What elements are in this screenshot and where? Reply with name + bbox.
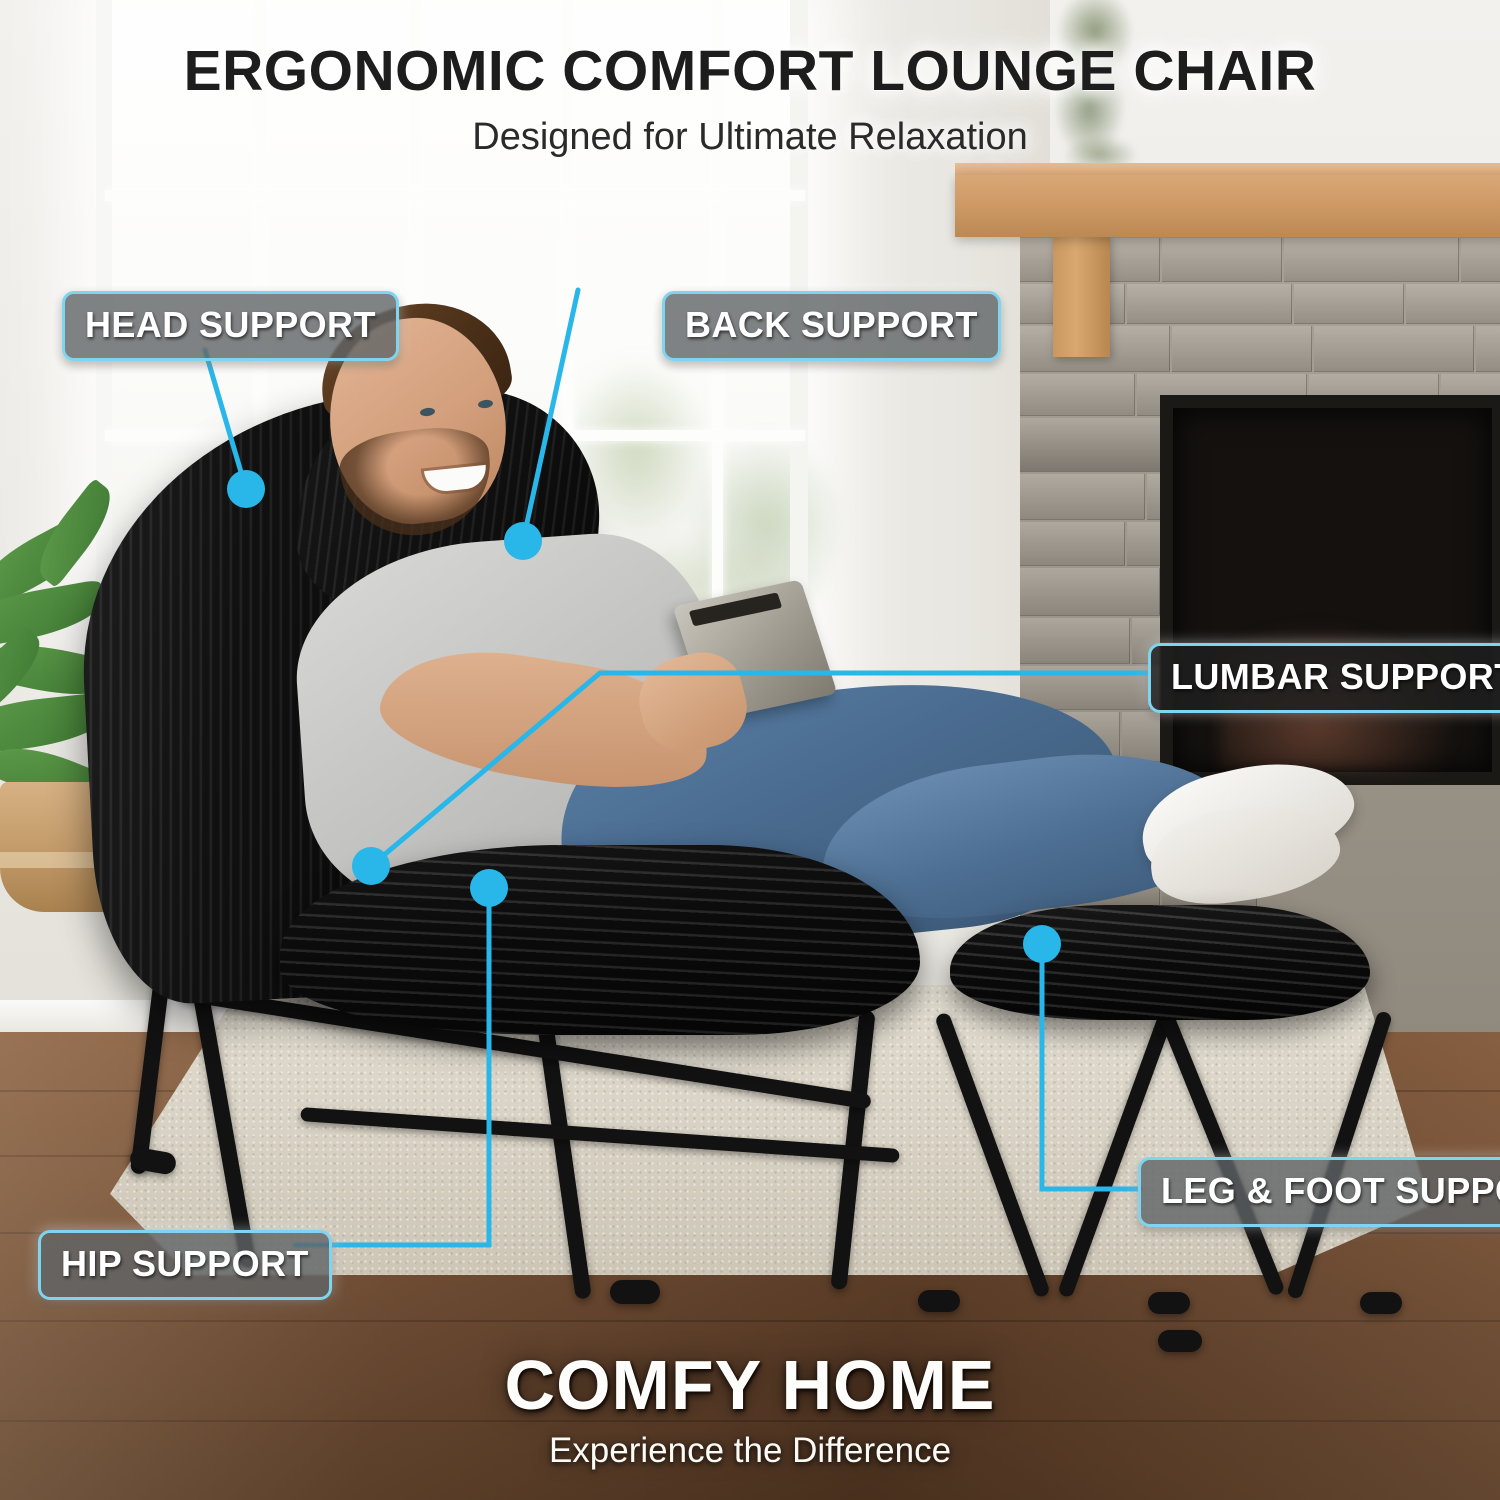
chair-foot — [610, 1280, 660, 1304]
callout-head-support[interactable]: HEAD SUPPORT — [62, 291, 399, 361]
wooden-mantel — [955, 175, 1500, 237]
ottoman-foot — [1360, 1292, 1402, 1314]
mantel-corbel — [1053, 235, 1110, 357]
callout-lumbar-support[interactable]: LUMBAR SUPPORT — [1148, 643, 1500, 713]
callout-back-support[interactable]: BACK SUPPORT — [662, 291, 1001, 361]
ottoman-foot — [918, 1290, 960, 1312]
ottoman-cushion — [950, 905, 1370, 1020]
page-subtitle: Designed for Ultimate Relaxation — [0, 116, 1500, 159]
window-mullion — [105, 190, 805, 201]
chair-seat-cushion — [280, 845, 920, 1035]
header-block: ERGONOMIC COMFORT LOUNGE CHAIR Designed … — [0, 38, 1500, 159]
brand-tagline: Experience the Difference — [0, 1431, 1500, 1471]
ottoman-ribbing — [950, 905, 1370, 1020]
brand-name: COMFY HOME — [0, 1345, 1500, 1425]
seat-ribbing — [280, 845, 920, 1035]
callout-hip-support[interactable]: HIP SUPPORT — [38, 1230, 332, 1300]
page-title: ERGONOMIC COMFORT LOUNGE CHAIR — [0, 38, 1500, 104]
callout-leg-foot-support[interactable]: LEG & FOOT SUPPORT — [1138, 1157, 1500, 1227]
brand-block: COMFY HOME Experience the Difference — [0, 1345, 1500, 1471]
ottoman-foot — [1148, 1292, 1190, 1314]
infographic-canvas: ERGONOMIC COMFORT LOUNGE CHAIR Designed … — [0, 0, 1500, 1500]
